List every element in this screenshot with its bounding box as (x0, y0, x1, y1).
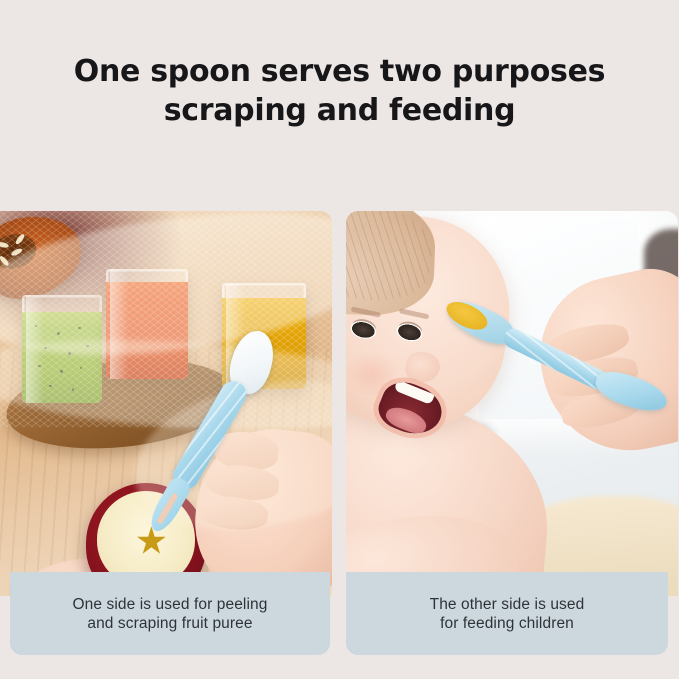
caption-line-1: One side is used for peeling (73, 595, 268, 614)
panel-feeding-children: The other side is used for feeding child… (346, 211, 678, 655)
photo-feeding-children (346, 211, 678, 596)
baby-eyebrow (399, 308, 429, 319)
page-title-line-1: One spoon serves two purposes (0, 52, 679, 91)
baby-teeth (394, 380, 435, 405)
page-title: One spoon serves two purposes scraping a… (0, 52, 679, 130)
caption-line-2: and scraping fruit puree (73, 614, 268, 633)
baby-eye-right (395, 321, 424, 344)
page-title-line-2: scraping and feeding (0, 91, 679, 130)
caption-feeding-children: The other side is used for feeding child… (346, 572, 668, 655)
panel-row: One side is used for peeling and scrapin… (0, 211, 679, 655)
caption-line-2: for feeding children (430, 614, 585, 633)
caption-peeling-scraping: One side is used for peeling and scrapin… (10, 572, 330, 655)
baby-nose (404, 350, 442, 384)
baby-eye-left (349, 319, 378, 342)
caption-text: The other side is used for feeding child… (430, 595, 585, 633)
caption-line-1: The other side is used (430, 595, 585, 614)
photo-peeling-scraping (0, 211, 332, 596)
caption-text: One side is used for peeling and scrapin… (73, 595, 268, 633)
panel-peeling-scraping: One side is used for peeling and scrapin… (0, 211, 332, 655)
